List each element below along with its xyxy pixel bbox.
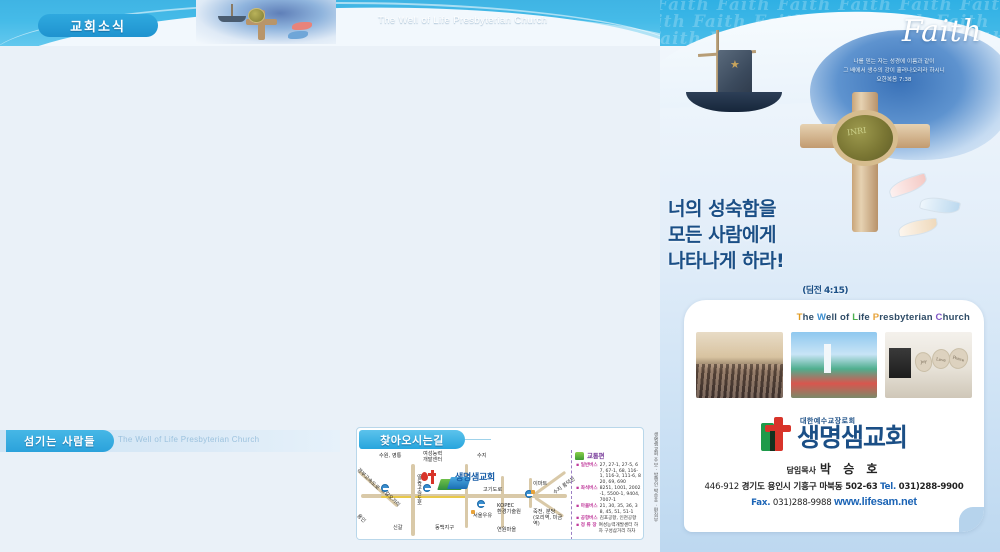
transport-row: 공항버스김포공항, 인천공항 bbox=[576, 516, 641, 522]
address-block: 446-912 경기도 용인시 기흥구 마북동 502-63 Tel. 031)… bbox=[684, 480, 984, 511]
transport-key: 정 류 장 bbox=[576, 523, 597, 534]
church-building-photo bbox=[791, 332, 878, 398]
header-decoration-photo bbox=[196, 0, 336, 44]
map-label-suji: 수지 bbox=[477, 454, 487, 460]
tel-number: 031)288-9900 bbox=[899, 482, 964, 492]
map-poi-dot bbox=[471, 510, 475, 514]
contact-card: The Well of Life Presbyterian Church Joy… bbox=[684, 300, 984, 532]
sailboat-illustration: ★ bbox=[682, 28, 792, 120]
section-tab-servants[interactable]: 섬기는 사람들 bbox=[6, 430, 114, 452]
left-page: 교회소식 The Well of Life Presbyterian Churc… bbox=[0, 0, 660, 552]
postal-code: 446-912 bbox=[705, 482, 740, 492]
congregation-photo bbox=[696, 332, 783, 398]
subway-marker bbox=[477, 500, 485, 508]
section-tab-news[interactable]: 교회소식 bbox=[38, 14, 158, 37]
street-address: 경기도 용인시 기흥구 마북동 502-63 bbox=[742, 482, 878, 492]
transportation-info-box: 교통편 일반버스27, 27-1, 27-5, 67, 67-1, 68, 11… bbox=[571, 450, 643, 540]
transport-key: 좌석버스 bbox=[576, 486, 598, 503]
map-canvas: 수원, 영통 여성능력개발센터 수지 경부고속도로 신갈오거리 영동고속도로 고… bbox=[357, 448, 569, 540]
map-label-yongin: 용인 bbox=[356, 514, 366, 525]
map-label-suwon: 수원, 영통 bbox=[379, 454, 401, 460]
transport-key: 공항버스 bbox=[576, 516, 598, 522]
logo-cross-icon bbox=[761, 417, 791, 451]
photo-strip: Joy Love Peace bbox=[696, 332, 972, 398]
card-church-title: The Well of Life Presbyterian Church bbox=[797, 312, 970, 323]
transport-value: 27, 27-1, 27-5, 67, 67-1, 68, 116-1, 116… bbox=[600, 463, 641, 485]
transportation-title: 교통편 bbox=[576, 452, 641, 461]
road-segment bbox=[501, 476, 504, 528]
tel-label: Tel. bbox=[880, 482, 896, 492]
transport-value: 김포공항, 인천공항 bbox=[600, 516, 637, 522]
fish-decorations bbox=[884, 172, 994, 262]
website-link[interactable]: www.lifesam.net bbox=[834, 496, 917, 508]
map-tab-label: 찾아오시는길 bbox=[359, 430, 465, 449]
map-tab-rule bbox=[465, 439, 491, 440]
stone-joy: Joy bbox=[913, 350, 934, 373]
star-icon: ★ bbox=[730, 58, 740, 71]
map-label-emart: 이마트 bbox=[533, 482, 547, 488]
fax-number: 031)288-9988 bbox=[773, 498, 832, 508]
subway-marker bbox=[381, 484, 389, 492]
map-label-singal: 신갈 bbox=[393, 526, 403, 532]
pastor-label: 담임목사 bbox=[787, 466, 816, 475]
coin-icon bbox=[248, 8, 265, 23]
bible-verse-john: 나를 믿는 자는 성경에 이름과 같이 그 배에서 생수의 강이 흘러나오리라 … bbox=[804, 58, 984, 85]
inri-text: INRI bbox=[846, 126, 866, 138]
transport-key: 일반버스 bbox=[576, 463, 598, 485]
footer-english-title: The Well of Life Presbyterian Church bbox=[118, 435, 259, 444]
map-label-kopec: KOPEC환경기술원 bbox=[497, 504, 521, 516]
map-label-jukjeon-bundang: 죽전, 분당(오리역, 미금역) bbox=[533, 510, 563, 528]
transport-key: 마을버스 bbox=[576, 504, 598, 515]
church-logo: 대한예수교장로회 생명샘교회 bbox=[684, 412, 984, 456]
subway-marker bbox=[423, 484, 431, 492]
map-label-seoul-milk: 서울우유 bbox=[473, 514, 492, 520]
spine-note: 생명샘교회 주보 · 발행인 박승호 · 편집부 bbox=[652, 432, 658, 522]
directions-map-box[interactable]: 찾아오시는길 수원, 영통 여성능력개발센터 수지 경부고속도로 신갈오거리 영… bbox=[356, 427, 644, 540]
fax-label: Fax. bbox=[751, 498, 770, 508]
card-corner-accent bbox=[959, 507, 984, 532]
header-english-title: The Well of Life Presbyterian Church bbox=[378, 15, 547, 26]
transport-row: 일반버스27, 27-1, 27-5, 67, 67-1, 68, 116-1,… bbox=[576, 463, 641, 485]
church-cross-marker bbox=[427, 470, 437, 484]
pastor-line: 담임목사박 승 호 bbox=[684, 460, 984, 477]
stone-peace: Peace bbox=[947, 345, 972, 371]
fish-icon bbox=[919, 194, 961, 217]
inri-medallion: INRI bbox=[832, 110, 898, 166]
map-label-expressway-gyeongbu: 경부고속도로 bbox=[356, 468, 380, 492]
fish-icon bbox=[897, 217, 939, 237]
transport-value: 8251, 1001, 2002-1, 5500-1, 9404, 7007-1 bbox=[600, 486, 641, 503]
map-label-womens-center: 여성능력개발센터 bbox=[423, 452, 449, 464]
bible-stones-photo: Joy Love Peace bbox=[885, 332, 972, 398]
transport-row: 마을버스21, 30, 35, 36, 38, 45, 51, 51-1 bbox=[576, 504, 641, 515]
transport-row: 좌석버스8251, 1001, 2002-1, 5500-1, 9404, 70… bbox=[576, 486, 641, 503]
pastor-name: 박 승 호 bbox=[820, 462, 881, 476]
right-page: Faith Faith Faith Faith Faith Faith Fait… bbox=[660, 0, 1000, 552]
bus-icon bbox=[575, 452, 584, 460]
map-church-name: 생명샘교회 bbox=[455, 470, 495, 483]
transport-value: 여성능력개발센터 하차 구성삼거리 하차 bbox=[599, 523, 641, 534]
logo-text-block: 대한예수교장로회 생명샘교회 bbox=[797, 416, 907, 452]
transport-value: 21, 30, 35, 36, 38, 45, 51, 51-1 bbox=[600, 504, 641, 515]
map-poi-dot bbox=[531, 490, 535, 494]
map-label-gogi-road: 고기도로 bbox=[483, 488, 502, 494]
faith-logo: Faith bbox=[902, 14, 982, 49]
headline-text: 너의 성숙함을 모든 사람에게 나타나게 하라! bbox=[668, 198, 784, 272]
main-headline: 너의 성숙함을 모든 사람에게 나타나게 하라! (딤전 4:15) bbox=[668, 196, 878, 304]
map-label-yeongdong-expressway: 영동고속도로 bbox=[415, 474, 421, 505]
map-label-yeonwon: 연원마을 bbox=[497, 528, 516, 534]
bulletin-spread: 교회소식 The Well of Life Presbyterian Churc… bbox=[0, 0, 1000, 552]
map-label-dongbaek: 동백지구 bbox=[435, 526, 454, 532]
church-name-korean: 생명샘교회 bbox=[797, 424, 907, 452]
fish-icon bbox=[887, 172, 930, 199]
transport-row: 정 류 장여성능력개발센터 하차 구성삼거리 하차 bbox=[576, 523, 641, 534]
